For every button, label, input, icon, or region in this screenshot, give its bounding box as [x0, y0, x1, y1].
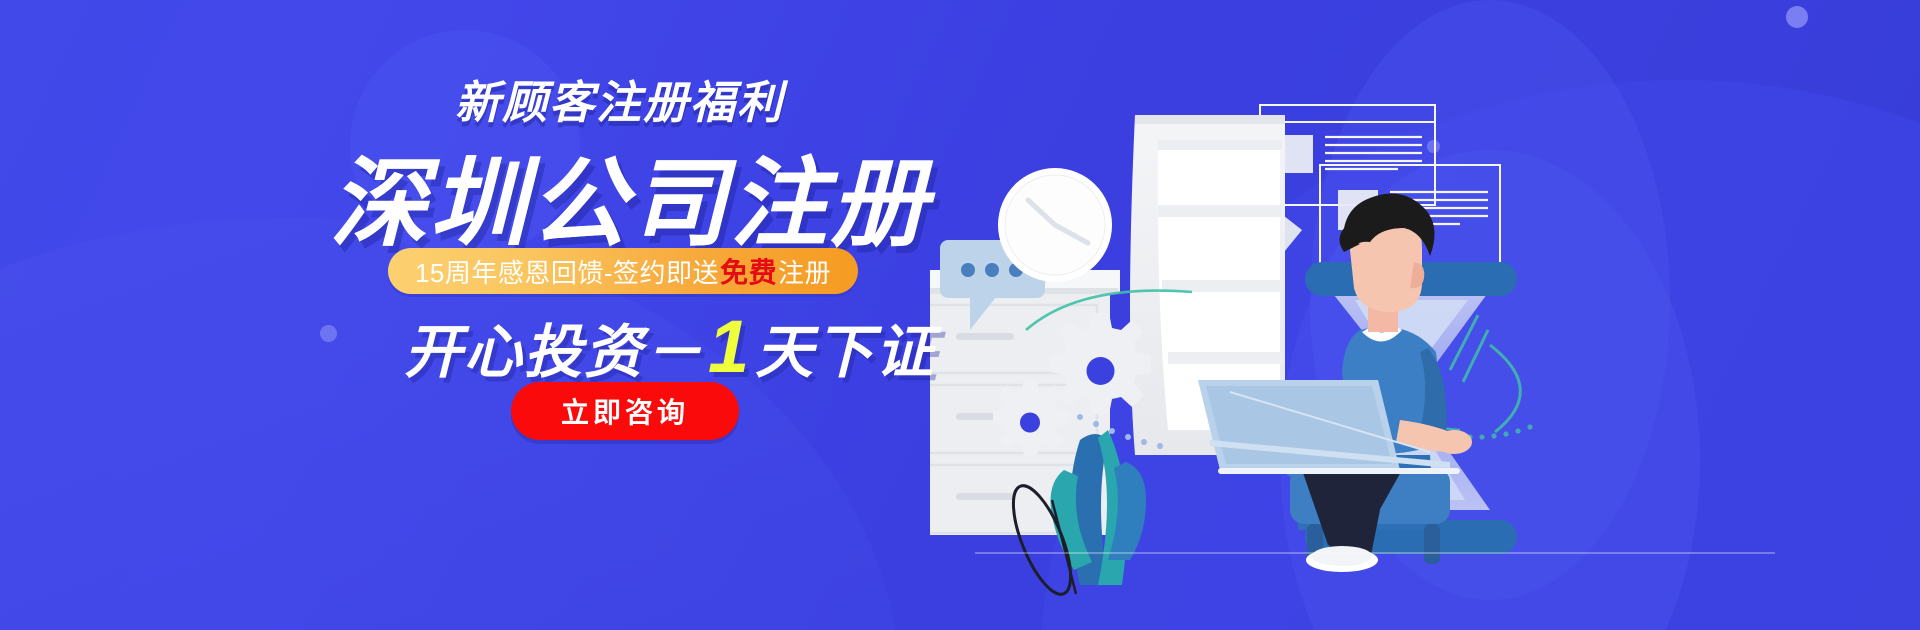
promo-prefix: 15周年感恩回馈-签约即送 [415, 253, 719, 290]
promo-highlight: 免费 [719, 251, 778, 291]
clock-icon [998, 168, 1112, 282]
kicker-text: 新顾客注册福利 [455, 66, 784, 131]
promo-suffix: 注册 [778, 253, 831, 290]
hero-illustration [930, 0, 1920, 630]
consult-now-label: 立即咨询 [561, 391, 689, 431]
consult-now-button[interactable]: 立即咨询 [511, 382, 739, 440]
slogan-prefix: 开心投资－ [404, 305, 704, 389]
promo-pill-text: 15周年感恩回馈-签约即送免费注册 [415, 251, 831, 291]
slogan-text: 开心投资－1天下证 [404, 305, 935, 389]
slogan-suffix: 天下证 [755, 305, 935, 389]
copy-block: 新顾客注册福利 深圳公司注册 15周年感恩回馈-签约即送免费注册 开心投资－1天… [0, 0, 940, 630]
gear-small-icon [993, 380, 1068, 455]
slogan-number: 1 [704, 314, 755, 381]
gear-large-icon [1050, 313, 1151, 414]
page-title: 深圳公司注册 [330, 124, 930, 265]
ground-line [975, 552, 1775, 554]
promo-pill: 15周年感恩回馈-签约即送免费注册 [388, 248, 858, 294]
promo-banner: 新顾客注册福利 深圳公司注册 15周年感恩回馈-签约即送免费注册 开心投资－1天… [0, 0, 1920, 630]
